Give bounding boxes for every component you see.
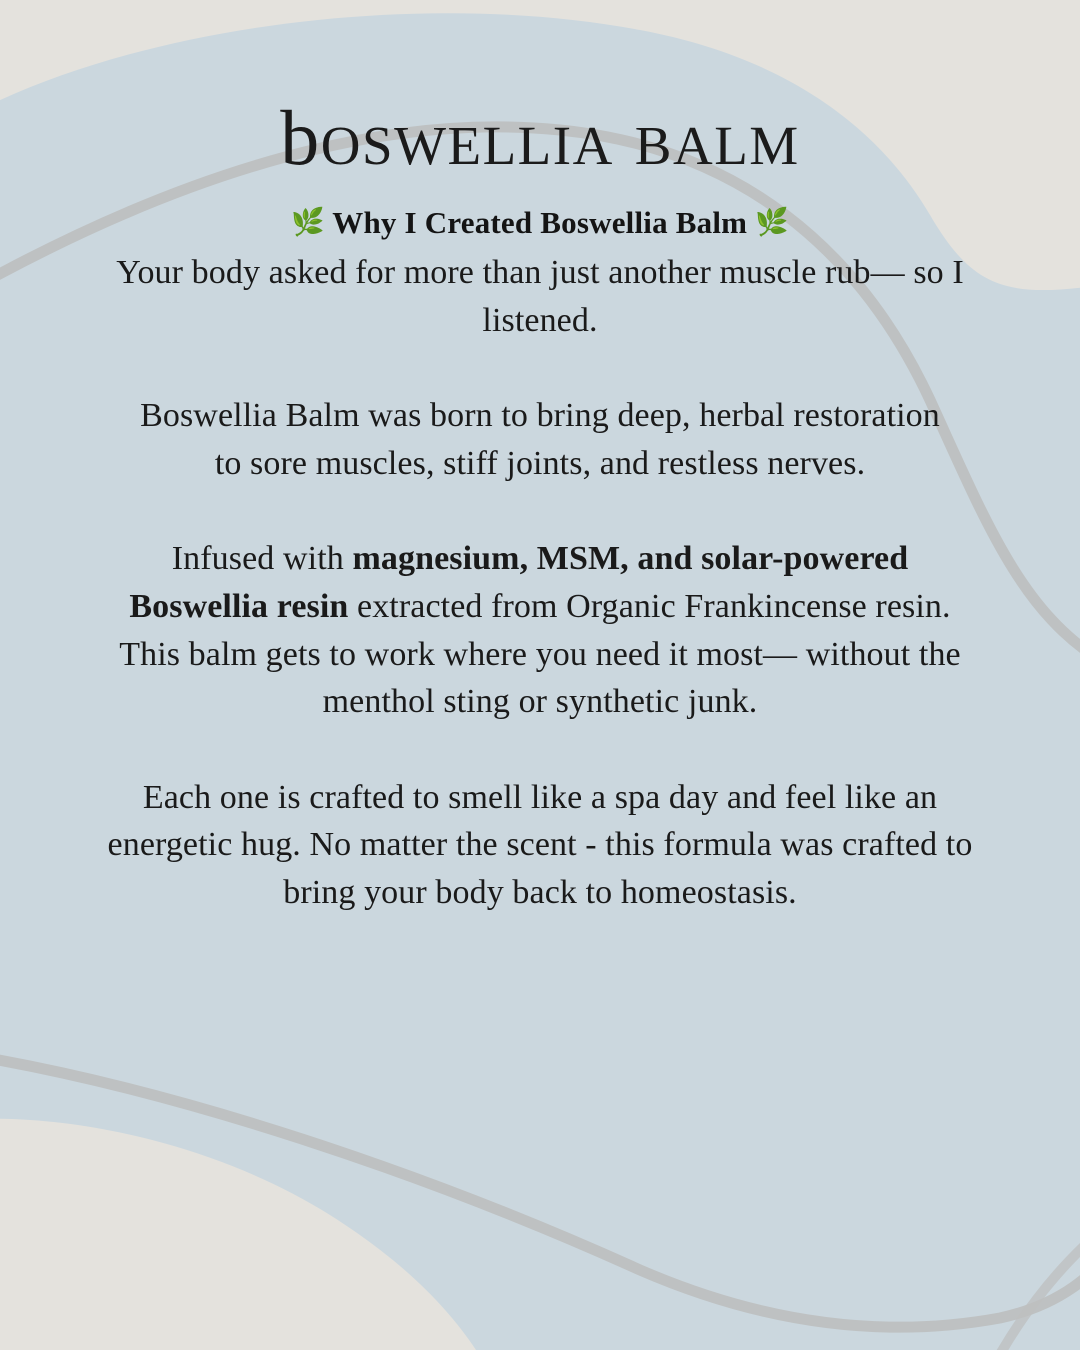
poster-content: Boswellia Balm 🌿 Why I Created Boswellia… — [0, 0, 1080, 1350]
paragraph-born: Boswellia Balm was born to bring deep, h… — [125, 392, 955, 487]
subtitle-row: 🌿 Why I Created Boswellia Balm 🌿 — [62, 204, 1018, 243]
paragraph-gap-3 — [62, 726, 1018, 774]
paragraph-lead: Your body asked for more than just anoth… — [80, 249, 1000, 344]
paragraph-infused-prefix: Infused with — [172, 540, 353, 577]
poster-canvas: Boswellia Balm 🌿 Why I Created Boswellia… — [0, 0, 1080, 1350]
page-title: Boswellia Balm — [62, 0, 1018, 180]
body-copy: Your body asked for more than just anoth… — [62, 249, 1018, 917]
paragraph-each: Each one is crafted to smell like a spa … — [80, 774, 1000, 917]
subtitle-text: Why I Created Boswellia Balm — [332, 205, 747, 240]
herb-icon-right: 🌿 — [755, 207, 789, 238]
paragraph-gap-2 — [62, 487, 1018, 535]
paragraph-gap-1 — [62, 344, 1018, 392]
paragraph-infused: Infused with magnesium, MSM, and solar-p… — [105, 535, 975, 725]
herb-icon-left: 🌿 — [291, 207, 325, 238]
